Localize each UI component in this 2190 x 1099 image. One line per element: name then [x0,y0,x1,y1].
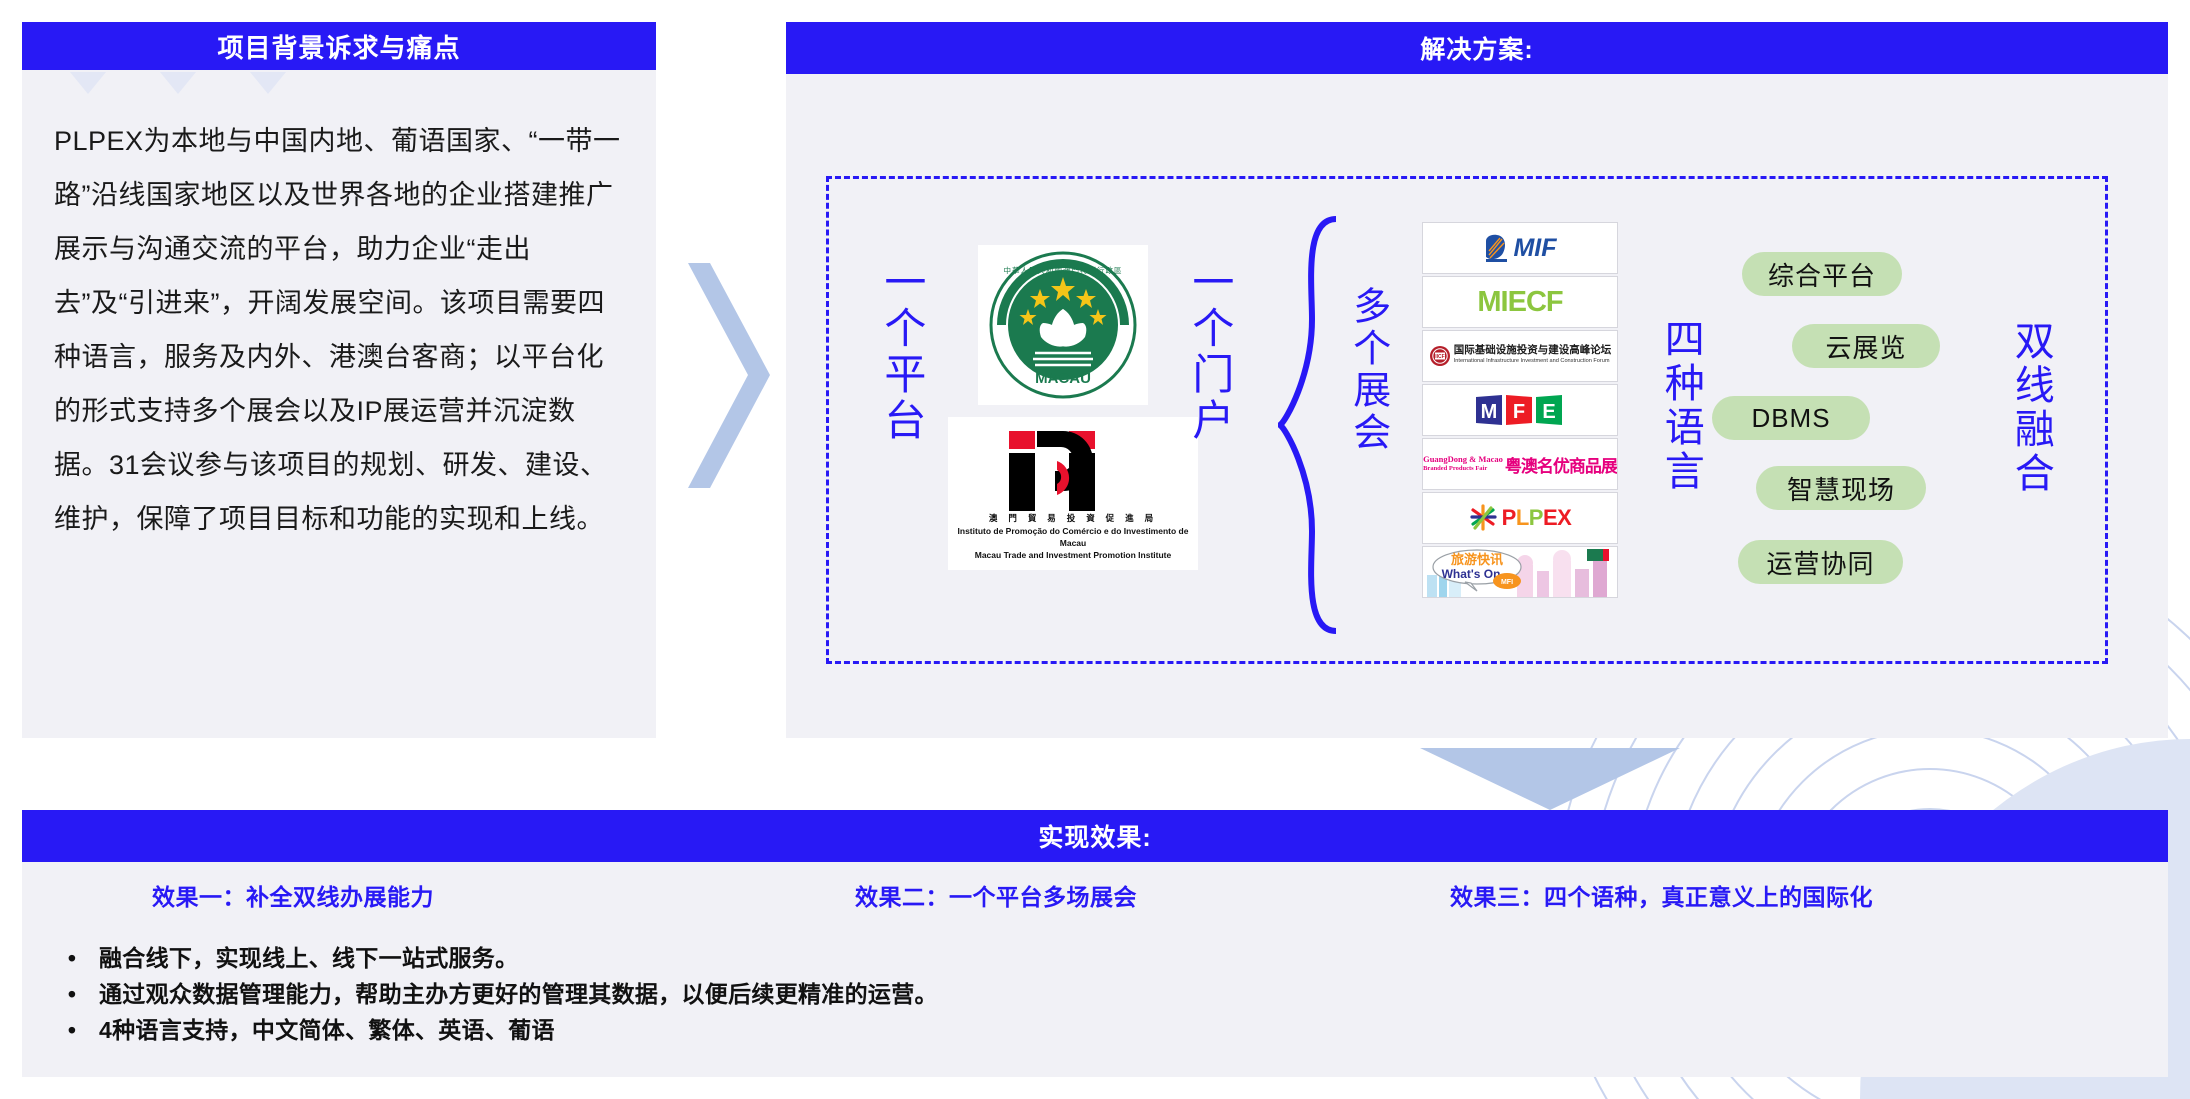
mif-label: MIF [1513,234,1556,263]
svg-text:M: M [1481,401,1498,423]
bullet-text: 融合线下，实现线上、线下一站式服务。 [99,940,518,976]
gdmacao-label-zh: 粤澳名优商品展 [1505,452,1617,477]
results-bullet-list: • 融合线下，实现线上、线下一站式服务。 • 通过观众数据管理能力，帮助主办方更… [45,940,1745,1048]
solution-panel-header: 解决方案: [786,22,2168,74]
macau-sar-emblem-logo: MACAU 中華人民共和國澳門特別行政區 [978,245,1148,405]
label-many-expos: 多个展会 [1348,286,1387,454]
exhibition-logo-miecf[interactable]: MIECF [1422,276,1618,328]
down-arrow [1420,748,1680,810]
effect-title-3: 效果三：四个语种，真正意义上的国际化 [1450,878,1873,912]
curly-brace-decoration [1278,215,1356,635]
triangle-decoration [70,72,106,94]
left-panel-body-text: PLPEX为本地与中国内地、葡语国家、“一带一路”沿线国家地区以及世界各地的企业… [22,92,656,738]
emblem-bottom-text: MACAU [1035,370,1091,387]
whatson-zh-label: 旅游快讯 [1451,552,1503,568]
label-one-portal: 一个门户 [1188,260,1231,444]
label-one-platform: 一个平台 [880,260,923,444]
svg-text:E: E [1542,401,1555,423]
whatson-mark-icon: 旅游快讯 What's On MFI [1425,547,1615,597]
left-panel-header: 项目背景诉求与痛点 [22,22,656,70]
svg-text:中華人民共和國澳門特別行政區: 中華人民共和國澳門特別行政區 [1004,265,1123,275]
gdmacao-label-en: GuangDong & Macao [1423,455,1503,464]
svg-text:F: F [1513,401,1525,423]
bullet-marker: • [45,976,99,1012]
list-item: • 融合线下，实现线上、线下一站式服务。 [45,940,1745,976]
exhibition-logo-mfe[interactable]: M F E [1422,384,1618,436]
triangle-decoration [250,72,286,94]
effect-title-1: 效果一：补全双线办展能力 [152,878,434,912]
label-four-languages: 四种语言 [1660,318,1701,494]
macau-sar-emblem-icon: MACAU 中華人民共和國澳門特別行政區 [987,249,1139,401]
results-panel-header: 实现效果: [22,810,2168,862]
svg-text:IICF: IICF [1435,354,1444,360]
exhibition-logo-whatson[interactable]: 旅游快讯 What's On MFI [1422,546,1618,598]
pill-comprehensive-platform[interactable]: 综合平台 [1742,252,1902,296]
ipim-english-line: Macau Trade and Investment Promotion Ins… [975,549,1171,561]
exhibition-logo-iicf[interactable]: IICF 国际基础设施投资与建设高峰论坛 International Infra… [1422,330,1618,382]
gdmacao-label-en2: Branded Products Fair [1423,464,1503,473]
triangle-decoration [160,72,196,94]
label-dual-line-fusion: 双线融合 [2010,320,2051,496]
svg-text:澳 門 貿 易 投 資 促 進 局: 澳 門 貿 易 投 資 促 進 局 [989,513,1157,524]
effect-title-2: 效果二：一个平台多场展会 [855,878,1137,912]
mfe-mark-icon: M F E [1474,393,1566,427]
ipim-portuguese-line: Instituto de Promoção do Comércio e do I… [948,525,1198,549]
list-item: • 4种语言支持，中文简体、繁体、英语、葡语 [45,1012,1745,1048]
exhibition-logo-plpex[interactable]: PLPEX [1422,492,1618,544]
bullet-marker: • [45,1012,99,1048]
pill-smart-venue[interactable]: 智慧现场 [1756,466,1926,510]
right-chevron-arrow [688,263,788,488]
exhibition-logo-list: MIF MIECF IICF 国际基础设施投资与建设高峰论坛 Internati… [1422,222,1618,604]
svg-text:MFI: MFI [1501,579,1513,586]
pill-cloud-exhibition[interactable]: 云展览 [1792,324,1940,368]
mif-mark-icon [1483,233,1509,263]
pill-dbms[interactable]: DBMS [1712,396,1870,440]
slide-root: 项目背景诉求与痛点 PLPEX为本地与中国内地、葡语国家、“一带一路”沿线国家地… [0,0,2190,1099]
bullet-text: 4种语言支持，中文简体、繁体、英语、葡语 [99,1012,555,1048]
plpex-mark-icon [1469,504,1499,532]
bullet-text: 通过观众数据管理能力，帮助主办方更好的管理其数据，以便后续更精准的运营。 [99,976,938,1012]
exhibition-logo-mif[interactable]: MIF [1422,222,1618,274]
exhibition-logo-gdmacao[interactable]: GuangDong & Macao Branded Products Fair … [1422,438,1618,490]
iicf-label-en: International Infrastructure Investment … [1454,356,1612,367]
bullet-marker: • [45,940,99,976]
pill-operation-collaboration[interactable]: 运营协同 [1738,540,1903,584]
iicf-badge-icon: IICF [1429,345,1451,367]
whatson-en-label: What's On [1442,567,1501,581]
miecf-label: MIECF [1477,286,1562,319]
ipim-logo: 澳 門 貿 易 投 資 促 進 局 Instituto de Promoção … [948,417,1198,570]
list-item: • 通过观众数据管理能力，帮助主办方更好的管理其数据，以便后续更精准的运营。 [45,976,1745,1012]
iicf-label-zh: 国际基础设施投资与建设高峰论坛 [1454,345,1612,356]
ipim-mark-icon: 澳 門 貿 易 投 資 促 進 局 [973,427,1173,525]
